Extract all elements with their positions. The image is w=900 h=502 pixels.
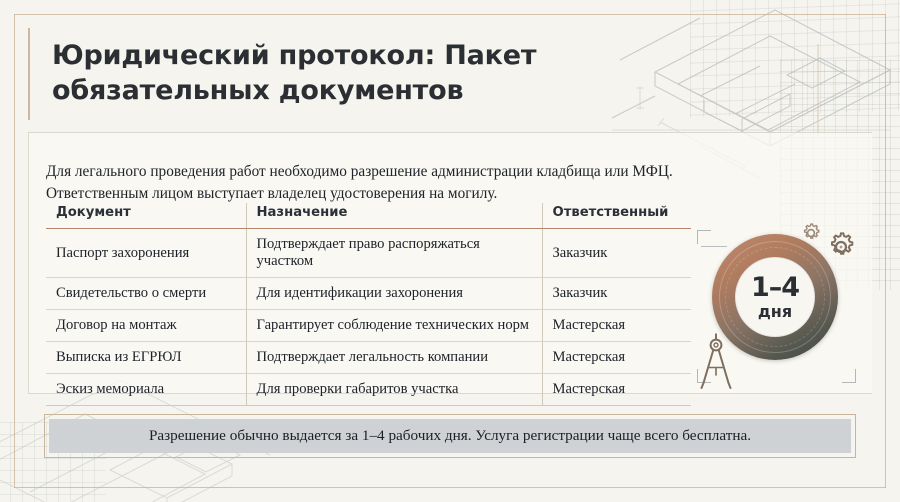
page-frame-top — [14, 14, 886, 15]
table-row: Договор на монтаж Гарантирует соблюдение… — [46, 310, 691, 342]
table-header-row: Документ Назначение Ответственный — [46, 203, 691, 229]
duration-badge-group: 1–4 дня — [695, 228, 860, 393]
compass-divider-icon — [693, 331, 739, 391]
cell-responsible: Заказчик — [542, 229, 691, 278]
table-row: Эскиз мемориала Для проверки габаритов у… — [46, 374, 691, 406]
cell-document: Договор на монтаж — [46, 310, 246, 342]
table-row: Паспорт захоронения Подтверждает право р… — [46, 229, 691, 278]
cell-responsible: Мастерская — [542, 374, 691, 406]
column-header-purpose: Назначение — [246, 203, 542, 229]
cell-responsible: Мастерская — [542, 342, 691, 374]
page-title-line-1: Юридический протокол: Пакет — [52, 40, 536, 71]
page-title-line-2: обязательных документов — [52, 75, 463, 106]
gear-small-icon — [798, 220, 824, 246]
page-frame-bottom — [14, 487, 886, 488]
slide-header: Юридический протокол: Пакет обязательных… — [28, 28, 668, 120]
intro-line-2: Ответственным лицом выступает владелец у… — [46, 185, 497, 202]
cell-purpose: Подтверждает легальность компании — [246, 342, 542, 374]
leader-line-horizontal — [701, 246, 727, 247]
column-header-document: Документ — [46, 203, 246, 229]
cell-document: Выписка из ЕГРЮЛ — [46, 342, 246, 374]
cell-responsible: Мастерская — [542, 310, 691, 342]
cell-purpose: Для идентификации захоронения — [246, 278, 542, 310]
cell-purpose: Подтверждает право распоряжаться участко… — [246, 229, 542, 278]
cell-responsible: Заказчик — [542, 278, 691, 310]
column-header-responsible: Ответственный — [542, 203, 691, 229]
footer-banner: Разрешение обычно выдается за 1–4 рабочи… — [49, 419, 851, 453]
cell-purpose: Для проверки габаритов участка — [246, 374, 542, 406]
cell-document: Паспорт захоронения — [46, 229, 246, 278]
intro-paragraph: Для легального проведения работ необходи… — [46, 161, 846, 204]
corner-tick-top-left-icon — [697, 230, 711, 244]
page-title: Юридический протокол: Пакет обязательных… — [52, 39, 668, 108]
duration-badge-number: 1–4 — [751, 274, 799, 301]
table-row: Выписка из ЕГРЮЛ Подтверждает легальност… — [46, 342, 691, 374]
page-frame-right — [885, 14, 886, 488]
documents-table: Документ Назначение Ответственный Паспор… — [46, 203, 691, 406]
duration-badge-core: 1–4 дня — [735, 257, 815, 337]
corner-tick-bottom-right-icon — [842, 369, 856, 383]
page-frame-left — [14, 14, 15, 488]
blueprint-grid-top-right — [690, 0, 900, 118]
table-row: Свидетельство о смерти Для идентификации… — [46, 278, 691, 310]
cell-document: Эскиз мемориала — [46, 374, 246, 406]
cell-purpose: Гарантирует соблюдение технических норм — [246, 310, 542, 342]
footer-banner-text: Разрешение обычно выдается за 1–4 рабочи… — [149, 428, 751, 443]
duration-badge-unit: дня — [758, 303, 792, 321]
intro-line-1: Для легального проведения работ необходи… — [46, 163, 673, 180]
cell-document: Свидетельство о смерти — [46, 278, 246, 310]
gear-large-icon — [822, 228, 860, 266]
